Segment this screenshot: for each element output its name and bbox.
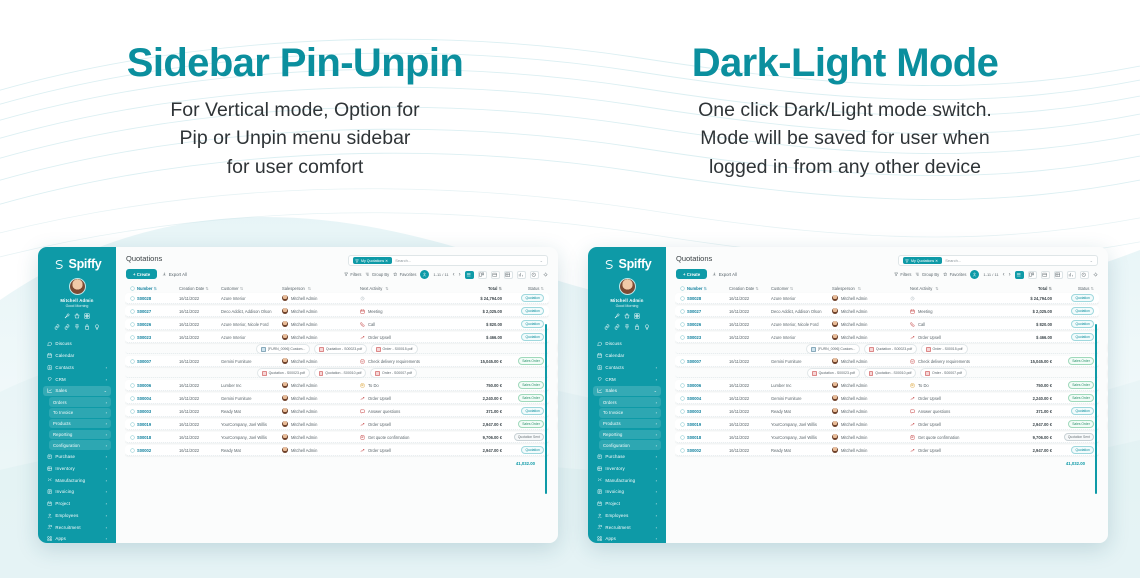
filters-button[interactable]: Filters [344,272,362,277]
cell-customer: Azure Interior [221,335,282,340]
page-subtitle-left: For Vertical mode, Option for Pip or Unp… [35,96,555,181]
cell-number[interactable]: S00004 [687,396,729,401]
chart-icon [360,396,365,401]
sidebar-item-employees[interactable]: Employees › [593,510,661,521]
sidebar-item-purchase[interactable]: Purchase › [43,451,111,462]
avatar-filter-button[interactable] [420,270,429,279]
prev-page-button[interactable]: ‹ [453,272,455,278]
table-row[interactable]: S00027 16/11/2022 Deco Addict, Addison O… [125,306,549,317]
pdf-file-icon [925,371,930,376]
column-header[interactable]: Salesperson ⇅ [282,286,360,291]
cell-number[interactable]: S00007 [137,359,179,364]
table-row[interactable]: S00026 16/11/2022 Azure Interior, Nicole… [125,319,549,330]
sidebar-item-recruitment[interactable]: Recruitment › [43,522,111,533]
sidebar-item-orders[interactable]: Orders › [599,397,661,407]
scrollbar[interactable] [545,324,547,494]
column-header[interactable]: Status ⇅ [502,286,544,291]
table-row[interactable]: S00019 16/11/2022 YourCompany, Joel Will… [675,419,1099,430]
sidebar-item-crm[interactable]: CRM › [43,374,111,385]
sidebar-item-products[interactable]: Products › [49,419,111,429]
cell-number[interactable]: S00023 [687,335,729,340]
cell-next-activity: Check delivery requirements [910,359,1004,364]
create-button[interactable]: + Create [126,269,157,279]
cell-status: Quotation [1052,446,1094,454]
row-checkbox[interactable] [680,422,687,427]
cell-number[interactable]: S00006 [687,383,729,388]
sidebar-item-invoicing[interactable]: Invoicing › [43,487,111,498]
export-all-button[interactable]: Export All [712,272,737,277]
table-row[interactable]: S00004 16/11/2022 Gemini Furniture Mitch… [675,393,1099,404]
cell-total: $ 2,025.00 [1004,309,1052,314]
row-checkbox[interactable] [680,309,687,314]
pivot-view-icon-button[interactable] [1054,271,1063,279]
avatar [832,447,838,453]
sidebar-item-manufacturing[interactable]: Manufacturing › [43,475,111,486]
row-checkbox[interactable] [130,322,137,327]
attachment-chip[interactable]: Order - S00007.pdf [920,368,966,378]
quick-icons-row-1 [593,313,661,319]
attachment-chip[interactable]: Quotation - S00010.pdf [864,368,917,378]
row-checkbox[interactable] [680,448,687,453]
prev-page-button[interactable]: ‹ [1003,272,1005,278]
filter-icon [355,259,359,263]
row-checkbox[interactable] [680,359,687,364]
app-window: Spiffy Mitchell Admin Good Morning Discu… [38,247,558,543]
chevron-icon: ⌄ [104,388,107,393]
cell-number[interactable]: S00019 [137,422,179,427]
cell-number[interactable]: S00007 [687,359,729,364]
favorites-button[interactable]: Favorites [393,272,416,277]
row-checkbox[interactable] [130,396,137,401]
sidebar-item-employees[interactable]: Employees › [43,510,111,521]
sidebar-item-contacts[interactable]: Contacts › [43,362,111,373]
sidebar-item-apps[interactable]: Apps › [43,534,111,543]
cell-creation-date: 16/11/2022 [179,359,221,364]
activity-view-icon[interactable] [531,272,536,277]
row-checkbox[interactable] [680,335,687,340]
next-page-button[interactable]: › [1009,272,1011,278]
cell-status: Quotation [502,320,544,328]
create-button[interactable]: + Create [676,269,707,279]
recruitment-icon [47,524,52,529]
column-header[interactable]: Status ⇅ [1052,286,1094,291]
chevron-icon: › [106,432,107,437]
cell-number[interactable]: S00003 [137,409,179,414]
sidebar-item-products[interactable]: Products › [599,419,661,429]
view-toolbar: Filters Group By Favorites 1-11 / 11 ‹ › [894,270,1098,279]
table-row[interactable]: S00006 16/11/2022 Lumber Inc Mitchell Ad… [675,380,1099,391]
cell-creation-date: 16/11/2022 [179,435,221,440]
table-row[interactable]: S00002 16/11/2022 Ready Mat Mitchell Adm… [675,445,1099,456]
sidebar-item-orders[interactable]: Orders › [49,397,111,407]
table-row[interactable]: S00028 16/11/2022 Azure Interior Mitchel… [125,293,549,304]
pivot-view-icon-button[interactable] [504,271,513,279]
search-bar[interactable]: My Quotations ✕ Search... ⌄ [348,255,548,266]
chat-icon [597,341,602,346]
list-view-icon[interactable] [1016,272,1021,277]
avatar [832,395,838,401]
table-row[interactable]: S00027 16/11/2022 Deco Addict, Addison O… [675,306,1099,317]
search-input[interactable]: Search... [395,258,411,263]
calendar-view-icon-button[interactable] [1041,271,1050,279]
sidebar-item-manufacturing[interactable]: Manufacturing › [593,475,661,486]
graph-view-icon-button[interactable] [517,271,526,279]
bulb-icon [94,324,100,330]
table-row[interactable]: S00007 16/11/2022 Gemini Furniture Mitch… [125,356,549,367]
table-row[interactable]: S00007 16/11/2022 Gemini Furniture Mitch… [675,356,1099,367]
export-all-button[interactable]: Export All [162,272,187,277]
chevron-icon: › [656,443,657,448]
theme-toggle-button[interactable] [543,272,548,277]
filters-button[interactable]: Filters [894,272,912,277]
column-header[interactable]: Creation Date ⇅ [729,286,771,291]
table-row[interactable]: S00023 16/11/2022 Azure Interior Mitchel… [125,332,549,343]
attachment-chip[interactable]: [FURN_0096] Custom... [256,344,310,354]
sidebar-item-project[interactable]: Project › [43,498,111,509]
column-header[interactable]: Total ⇅ [454,286,502,291]
sidebar-item-apps[interactable]: Apps › [593,534,661,543]
cell-number[interactable]: S00023 [137,335,179,340]
pdf-file-icon [869,347,874,352]
panel-heading-left: Sidebar Pin-Unpin For Vertical mode, Opt… [35,42,555,181]
sidebar-item-to invoice[interactable]: To Invoice › [599,408,661,418]
cell-total: $ 2,025.00 [454,309,502,314]
sidebar-item-label: Discuss [605,341,657,346]
attachment-chip[interactable]: Order - S00007.pdf [370,368,416,378]
row-checkbox[interactable] [130,296,137,301]
calendar-view-icon-button[interactable] [491,271,500,279]
cell-number[interactable]: S00026 [687,322,729,327]
graph-view-icon[interactable] [1068,272,1073,277]
cell-customer: Ready Mat [221,448,282,453]
kanban-view-icon[interactable] [479,272,484,277]
column-header[interactable]: Next Activity ⇅ [910,286,1004,291]
table-row[interactable]: S00004 16/11/2022 Gemini Furniture Mitch… [125,393,549,404]
table-row[interactable]: S00002 16/11/2022 Ready Mat Mitchell Adm… [125,445,549,456]
img-file-icon [811,347,816,352]
row-checkbox[interactable] [130,422,137,427]
pivot-view-icon[interactable] [505,272,510,277]
theme-toggle-button[interactable] [1093,272,1098,277]
chevron-icon: › [656,421,657,426]
list-view-icon[interactable] [466,272,471,277]
cell-number[interactable]: S00027 [137,309,179,314]
cell-salesperson: Mitchell Admin [832,447,910,453]
cell-customer: Azure Interior, Nicole Ford [221,322,282,327]
sidebar-item-inventory[interactable]: Inventory › [593,463,661,474]
kanban-view-icon-button[interactable] [478,271,487,279]
sidebar-item-inventory[interactable]: Inventory › [43,463,111,474]
search-facet[interactable]: My Quotations ✕ [903,257,942,264]
attachment-chip[interactable]: Order - S00015.pdf [921,344,967,354]
cell-number[interactable]: S00003 [687,409,729,414]
pivot-view-icon[interactable] [1055,272,1060,277]
app-window: Spiffy Mitchell Admin Good Morning Discu… [588,247,1108,543]
graph-view-icon[interactable] [518,272,523,277]
sidebar-item-contacts[interactable]: Contacts › [593,362,661,373]
search-input[interactable]: Search... [945,258,961,263]
cell-status: Quotation [502,333,544,341]
activity-label: Order Upsell [368,335,391,340]
attachment-label: Quotation - S00010.pdf [875,371,911,375]
chevron-icon: › [656,478,657,483]
bag-icon [624,313,630,319]
column-header[interactable]: Salesperson ⇅ [832,286,910,291]
avatar-filter-button[interactable] [970,270,979,279]
calendar-view-icon[interactable] [492,272,497,277]
activity-label: Get quote confirmation [918,435,959,440]
cell-total: 9,706.00 € [454,435,502,440]
cell-next-activity: Get quote confirmation [910,435,1004,440]
sidebar-item-configuration[interactable]: Configuration › [49,440,111,450]
chevron-down-icon[interactable]: ⌄ [1090,258,1093,263]
cell-total: 15,045.00 € [454,359,502,364]
cell-status: Sales Order [502,381,544,389]
search-facet[interactable]: My Quotations ✕ [353,257,392,264]
attachment-row: [FURN_0096] Custom... Quotation - S00023… [675,345,1099,354]
chart-icon [360,448,365,453]
sidebar-item-calendar[interactable]: Calendar [593,350,661,361]
chevron-icon: › [106,421,107,426]
row-checkbox[interactable] [130,309,137,314]
sidebar-item-recruitment[interactable]: Recruitment › [593,522,661,533]
phone-icon [360,322,365,327]
attachment-chip[interactable]: Quotation - S00010.pdf [314,368,367,378]
cell-next-activity: Order Upsell [910,396,1004,401]
group-by-button[interactable]: Group By [365,272,389,277]
table-row[interactable]: S00018 16/11/2022 YourCompany, Joel Will… [675,432,1099,443]
status-badge: Sales Order [518,381,544,389]
column-header[interactable]: Number ⇅ [137,286,179,291]
sidebar-item-discuss[interactable]: Discuss [593,339,661,350]
row-checkbox[interactable] [680,435,687,440]
select-all-checkbox[interactable] [680,286,687,291]
cell-number[interactable]: S00002 [687,448,729,453]
table-row[interactable]: S00028 16/11/2022 Azure Interior Mitchel… [675,293,1099,304]
kanban-view-icon[interactable] [1029,272,1034,277]
sidebar-item-invoicing[interactable]: Invoicing › [593,487,661,498]
cell-next-activity: Meeting [910,309,1004,314]
cell-number[interactable]: S00019 [687,422,729,427]
table-row[interactable]: S00006 16/11/2022 Lumber Inc Mitchell Ad… [125,380,549,391]
attachment-chip[interactable]: [FURN_0096] Custom... [806,344,860,354]
table-row[interactable]: S00003 16/11/2022 Ready Mat Mitchell Adm… [675,406,1099,417]
activity-label: Order Upsell [918,396,941,401]
cell-status: Quotation Sent [502,433,544,441]
status-badge: Quotation [521,333,544,341]
cell-salesperson: Mitchell Admin [832,358,910,364]
avatar [832,321,838,327]
img-file-icon [261,347,266,352]
status-badge: Quotation [1071,446,1094,454]
table-row[interactable]: S00018 16/11/2022 YourCompany, Joel Will… [125,432,549,443]
cell-next-activity: Call [360,322,454,327]
group-icon [915,272,919,276]
cell-creation-date: 16/11/2022 [729,396,771,401]
column-header[interactable]: Number ⇅ [687,286,729,291]
row-checkbox[interactable] [680,383,687,388]
cell-number[interactable]: S00027 [687,309,729,314]
cell-salesperson: Mitchell Admin [832,434,910,440]
row-checkbox[interactable] [130,383,137,388]
chevron-icon: › [106,410,107,415]
cell-salesperson: Mitchell Admin [832,295,910,301]
cell-number[interactable]: S00028 [687,296,729,301]
cell-number[interactable]: S00004 [137,396,179,401]
sidebar-item-project[interactable]: Project › [593,498,661,509]
sidebar-item-label: Products [53,421,103,426]
sidebar-item-label: Reporting [53,432,103,437]
chart-icon [910,335,915,340]
attachment-chip[interactable]: Quotation - S00023.pdf [314,344,367,354]
scrollbar[interactable] [1095,324,1097,494]
quotations-table: Number ⇅Creation Date ⇅Customer ⇅Salespe… [675,284,1099,543]
attachment-label: [FURN_0096] Custom... [818,347,855,351]
cell-salesperson: Mitchell Admin [832,421,910,427]
star-icon [943,272,947,276]
sidebar-item-label: Inventory [605,466,652,471]
activity-view-icon-button[interactable] [1080,271,1089,279]
avatar [282,395,288,401]
list-view-icon-button[interactable] [1015,271,1024,279]
cell-total: $ 24,794.00 [1004,296,1052,301]
calendar-view-icon[interactable] [1042,272,1047,277]
sidebar-item-configuration[interactable]: Configuration › [599,440,661,450]
attachment-chip[interactable]: Quotation - S00023.pdf [257,368,310,378]
sidebar-item-label: Discuss [55,341,107,346]
chevron-icon: › [656,365,657,370]
cell-total: 2,947.00 € [1004,448,1052,453]
sidebar-item-crm[interactable]: CRM › [593,374,661,385]
search-bar[interactable]: My Quotations ✕ Search... ⌄ [898,255,1098,266]
kanban-view-icon-button[interactable] [1028,271,1037,279]
status-badge: Quotation [1071,294,1094,302]
row-checkbox[interactable] [130,409,137,414]
table-row[interactable]: S00023 16/11/2022 Azure Interior Mitchel… [675,332,1099,343]
activity-view-icon-button[interactable] [530,271,539,279]
user-avatar[interactable] [69,278,86,295]
attachment-chip[interactable]: Order - S00015.pdf [371,344,417,354]
user-avatar[interactable] [619,278,636,295]
main-content: Quotations + Create Export All My Quotat… [116,247,558,543]
clock-icon [360,296,365,301]
table-row[interactable]: S00026 16/11/2022 Azure Interior, Nicole… [675,319,1099,330]
cell-total: $ 820.00 [1004,322,1052,327]
column-header[interactable]: Creation Date ⇅ [179,286,221,291]
row-checkbox[interactable] [130,359,137,364]
column-header[interactable]: Next Activity ⇅ [360,286,454,291]
group-by-button[interactable]: Group By [915,272,939,277]
row-checkbox[interactable] [680,322,687,327]
row-checkbox[interactable] [680,409,687,414]
cell-customer: Gemini Furniture [771,396,832,401]
sidebar-item-label: Recruitment [605,525,652,530]
quote-icon [910,435,915,440]
chevron-icon: › [106,443,107,448]
activity-label: Check delivery requirements [918,359,970,364]
row-checkbox[interactable] [130,448,137,453]
cell-status: Quotation [502,307,544,315]
cell-number[interactable]: S00002 [137,448,179,453]
activity-label: Check delivery requirements [368,359,420,364]
avatar [282,334,288,340]
sidebar-item-discuss[interactable]: Discuss [43,339,111,350]
chevron-down-icon[interactable]: ⌄ [540,258,543,263]
cell-next-activity: Get quote confirmation [360,435,454,440]
employees-icon [47,513,52,518]
cell-next-activity: Meeting [360,309,454,314]
sidebar-item-calendar[interactable]: Calendar [43,350,111,361]
sidebar: Spiffy Mitchell Admin Good Morning Discu… [588,247,666,543]
sidebar-item-to invoice[interactable]: To Invoice › [49,408,111,418]
project-icon [47,501,52,506]
row-checkbox[interactable] [130,335,137,340]
table-header: Number ⇅Creation Date ⇅Customer ⇅Salespe… [125,284,549,293]
activity-label: Order Upsell [368,396,391,401]
brand-logo[interactable]: Spiffy [43,257,111,271]
row-checkbox[interactable] [130,435,137,440]
favorites-button[interactable]: Favorites [943,272,966,277]
attachment-chip[interactable]: Quotation - S00023.pdf [864,344,917,354]
sidebar-item-sales[interactable]: Sales ⌄ [43,386,111,397]
row-checkbox[interactable] [680,296,687,301]
pdf-file-icon [375,371,380,376]
row-checkbox[interactable] [680,396,687,401]
attachment-chip[interactable]: Quotation - S00023.pdf [807,368,860,378]
graph-view-icon-button[interactable] [1067,271,1076,279]
cell-salesperson: Mitchell Admin [832,382,910,388]
status-badge: Quotation Sent [514,433,544,441]
cell-number[interactable]: S00028 [137,296,179,301]
invoicing-icon [47,489,52,494]
calendar-icon [597,353,602,358]
chevron-icon: › [656,525,657,530]
pager-label: 1-11 / 11 [433,272,448,277]
sidebar-item-label: Calendar [55,353,107,358]
activity-label: Order Upsell [918,448,941,453]
avatar [832,408,838,414]
sidebar-item-reporting[interactable]: Reporting › [599,430,661,440]
sidebar-item-reporting[interactable]: Reporting › [49,430,111,440]
avatar [832,334,838,340]
dark-light-mode-icon [1093,272,1098,277]
select-all-checkbox[interactable] [130,286,137,291]
cell-customer: Azure Interior [771,296,832,301]
sidebar-item-sales[interactable]: Sales ⌄ [593,386,661,397]
pdf-file-icon [869,371,874,376]
cell-customer: YourCompany, Joel Willis [221,422,282,427]
cell-number[interactable]: S00026 [137,322,179,327]
cell-number[interactable]: S00006 [137,383,179,388]
cell-number[interactable]: S00018 [687,435,729,440]
sidebar-item-purchase[interactable]: Purchase › [593,451,661,462]
list-view-icon-button[interactable] [465,271,474,279]
table-row[interactable]: S00019 16/11/2022 YourCompany, Joel Will… [125,419,549,430]
activity-view-icon[interactable] [1081,272,1086,277]
column-header[interactable]: Customer ⇅ [771,286,832,291]
brand-logo[interactable]: Spiffy [593,257,661,271]
brand-name: Spiffy [619,257,652,271]
table-row[interactable]: S00003 16/11/2022 Ready Mat Mitchell Adm… [125,406,549,417]
sidebar-item-label: CRM [605,377,652,382]
grid-icon [634,313,640,319]
next-page-button[interactable]: › [459,272,461,278]
cell-number[interactable]: S00018 [137,435,179,440]
cell-creation-date: 16/11/2022 [729,309,771,314]
column-header[interactable]: Customer ⇅ [221,286,282,291]
column-header[interactable]: Total ⇅ [1004,286,1052,291]
cell-salesperson: Mitchell Admin [282,358,360,364]
